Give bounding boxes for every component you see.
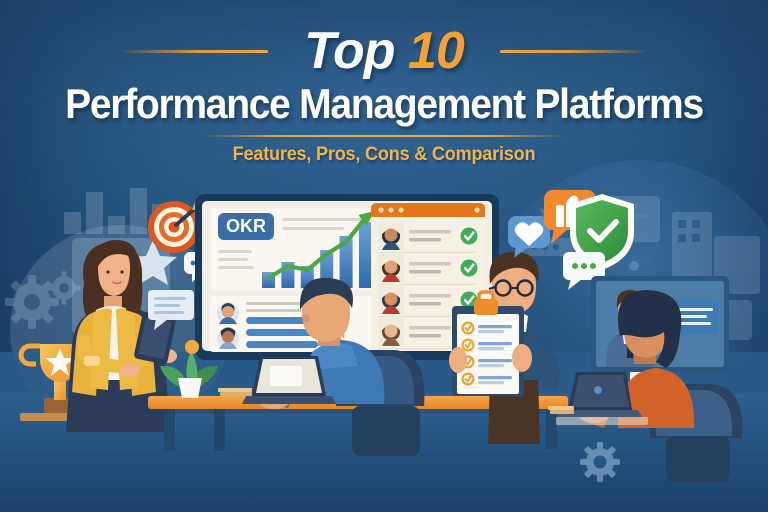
infographic-canvas: OKR Top 10 Performance Management Platfo… [0, 0, 768, 512]
books [218, 388, 252, 396]
rule-left [118, 50, 268, 53]
books-right [548, 406, 574, 414]
title-line-2: Performance Management Platforms [27, 80, 741, 128]
title-top-word: Top [304, 22, 394, 80]
okr-badge-label: OKR [226, 216, 266, 236]
chart-bar [359, 222, 372, 288]
header: Top 10 Performance Management Platforms … [0, 0, 768, 180]
title-line-1: Top 10 [0, 20, 768, 82]
hand [449, 347, 467, 373]
subtitle: Features, Pros, Cons & Comparison [19, 144, 749, 166]
hand [512, 344, 532, 372]
rule-right [500, 50, 650, 53]
desk-right [556, 417, 648, 425]
title-number: 10 [408, 22, 464, 80]
rule-under-title [204, 135, 564, 137]
clipboard [452, 292, 524, 396]
gear-icon [580, 442, 620, 482]
